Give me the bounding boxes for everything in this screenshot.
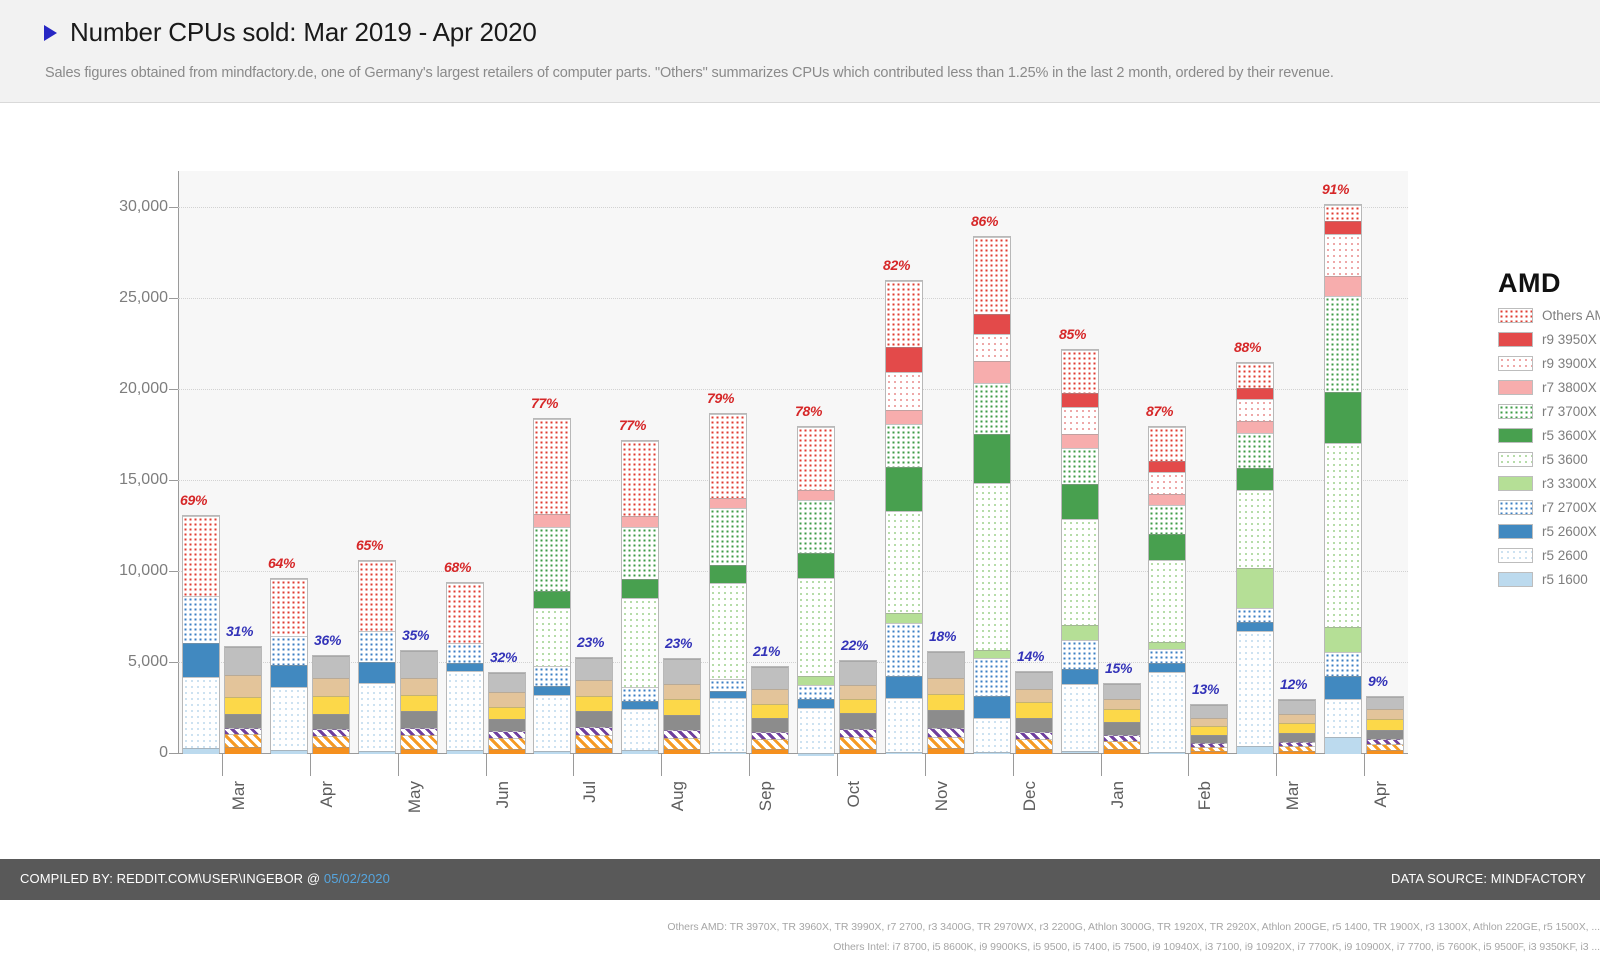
- bar-segment[interactable]: [1279, 723, 1315, 733]
- bar-segment[interactable]: [928, 737, 964, 748]
- bar-segment[interactable]: [710, 508, 746, 564]
- legend-item[interactable]: r5 2600X: [1498, 524, 1600, 539]
- bar-segment[interactable]: [622, 750, 658, 754]
- bar-segment[interactable]: [974, 483, 1010, 650]
- bar-segment[interactable]: [798, 578, 834, 675]
- bar-segment[interactable]: [1016, 732, 1052, 739]
- bar-segment[interactable]: [886, 752, 922, 754]
- legend: AMD Others AMDr9 3950Xr9 3900Xr7 3800Xr7…: [1498, 268, 1600, 587]
- bar-segment[interactable]: [886, 424, 922, 467]
- intel-share-label: 22%: [841, 637, 868, 653]
- bar-segment[interactable]: [313, 678, 349, 696]
- amd-stacked-bar[interactable]: [885, 280, 923, 753]
- bar-segment[interactable]: [798, 685, 834, 700]
- y-tick-mark: [169, 753, 178, 754]
- bar-segment[interactable]: [447, 643, 483, 663]
- bar-segment[interactable]: [664, 715, 700, 730]
- gridline: [178, 298, 1408, 299]
- bar-segment[interactable]: [840, 729, 876, 737]
- bar-segment[interactable]: [225, 675, 261, 697]
- intel-share-label: 15%: [1105, 660, 1132, 676]
- bar-segment[interactable]: [752, 739, 788, 749]
- bar-segment[interactable]: [576, 696, 612, 711]
- bar-segment[interactable]: [534, 527, 570, 592]
- legend-swatch-icon: [1498, 500, 1533, 515]
- bar-segment[interactable]: [974, 718, 1010, 753]
- legend-item[interactable]: r7 3700X: [1498, 404, 1600, 419]
- legend-swatch-icon: [1498, 452, 1533, 467]
- bar-segment[interactable]: [1237, 568, 1273, 607]
- amd-stacked-bar[interactable]: [358, 560, 396, 753]
- bar-segment[interactable]: [1149, 534, 1185, 560]
- footer-data-source: DATA SOURCE: MINDFACTORY: [1391, 871, 1586, 886]
- bar-segment[interactable]: [1149, 505, 1185, 534]
- bar-segment[interactable]: [1149, 494, 1185, 505]
- x-tick-mark: [310, 754, 311, 776]
- bar-segment[interactable]: [1062, 625, 1098, 640]
- bar-segment[interactable]: [886, 613, 922, 623]
- bar-segment[interactable]: [886, 347, 922, 372]
- legend-item[interactable]: r7 2700X: [1498, 500, 1600, 515]
- bar-segment[interactable]: [710, 414, 746, 498]
- chart-container: 05,00010,00015,00020,00025,00030,000 Mar…: [0, 103, 1600, 900]
- legend-item[interactable]: r9 3950X: [1498, 332, 1600, 347]
- intel-share-label: 31%: [226, 623, 253, 639]
- intel-stacked-bar[interactable]: [488, 672, 526, 753]
- bar-segment[interactable]: [534, 591, 570, 607]
- legend-item-label: r7 3800X: [1542, 380, 1597, 395]
- bar-segment[interactable]: [622, 527, 658, 580]
- intel-share-label: 12%: [1280, 676, 1307, 692]
- bar-segment[interactable]: [710, 565, 746, 583]
- bar-segment[interactable]: [1325, 737, 1361, 754]
- bar-segment[interactable]: [1367, 697, 1403, 710]
- bar-segment[interactable]: [183, 596, 219, 643]
- intel-share-label: 23%: [577, 634, 604, 650]
- bar-segment[interactable]: [928, 710, 964, 727]
- bar-segment[interactable]: [447, 583, 483, 643]
- bar-segment[interactable]: [359, 751, 395, 754]
- bar-segment[interactable]: [886, 410, 922, 424]
- bar-segment[interactable]: [534, 686, 570, 695]
- footer-compiled-by: COMPILED BY: REDDIT.COM\USER\INGEBOR @ 0…: [20, 871, 390, 886]
- legend-item[interactable]: r9 3900X: [1498, 356, 1600, 371]
- bar-segment[interactable]: [489, 707, 525, 720]
- bar-segment[interactable]: [1237, 421, 1273, 433]
- bar-segment[interactable]: [225, 734, 261, 747]
- bar-segment[interactable]: [1237, 388, 1273, 400]
- bar-segment[interactable]: [622, 709, 658, 751]
- bar-segment[interactable]: [1016, 749, 1052, 754]
- bar-segment[interactable]: [1062, 519, 1098, 624]
- bar-segment[interactable]: [401, 749, 437, 754]
- page-subtitle: Sales figures obtained from mindfactory.…: [45, 65, 1334, 81]
- y-tick-mark: [169, 389, 178, 390]
- bar-segment[interactable]: [1104, 699, 1140, 710]
- bar-segment[interactable]: [840, 661, 876, 685]
- amd-stacked-bar[interactable]: [1148, 426, 1186, 753]
- bar-segment[interactable]: [1237, 363, 1273, 388]
- bar-segment[interactable]: [710, 698, 746, 753]
- intel-stacked-bar[interactable]: [1278, 699, 1316, 753]
- x-tick-label: Mar: [1283, 781, 1303, 810]
- bar-segment[interactable]: [1149, 649, 1185, 664]
- bar-segment[interactable]: [1104, 709, 1140, 722]
- bar-segment[interactable]: [752, 749, 788, 754]
- bar-segment[interactable]: [1279, 714, 1315, 723]
- bar-segment[interactable]: [1062, 350, 1098, 393]
- intel-stacked-bar[interactable]: [575, 657, 613, 753]
- bar-segment[interactable]: [271, 687, 307, 751]
- bar-segment[interactable]: [489, 692, 525, 707]
- bar-segment[interactable]: [1237, 490, 1273, 568]
- intel-stacked-bar[interactable]: [1015, 671, 1053, 753]
- bar-segment[interactable]: [1149, 461, 1185, 472]
- bar-segment[interactable]: [1237, 631, 1273, 746]
- amd-share-label: 77%: [619, 417, 646, 433]
- legend-item-label: r7 2700X: [1542, 500, 1597, 515]
- bar-segment[interactable]: [225, 714, 261, 728]
- legend-item[interactable]: r5 2600: [1498, 548, 1600, 563]
- bar-segment[interactable]: [798, 427, 834, 491]
- bar-segment[interactable]: [183, 643, 219, 677]
- bar-segment[interactable]: [576, 658, 612, 681]
- bar-segment[interactable]: [359, 561, 395, 631]
- bar-segment[interactable]: [886, 511, 922, 613]
- bar-segment[interactable]: [401, 695, 437, 711]
- y-tick-label: 0: [48, 744, 168, 762]
- bar-segment[interactable]: [225, 747, 261, 754]
- bar-segment[interactable]: [886, 676, 922, 698]
- bar-segment[interactable]: [798, 753, 834, 756]
- bar-segment[interactable]: [798, 553, 834, 578]
- bar-segment[interactable]: [886, 372, 922, 410]
- bar-segment[interactable]: [1104, 741, 1140, 749]
- bar-segment[interactable]: [1149, 663, 1185, 672]
- bar-segment[interactable]: [313, 714, 349, 729]
- amd-share-label: 85%: [1059, 326, 1086, 342]
- bar-segment[interactable]: [752, 689, 788, 704]
- bar-segment[interactable]: [489, 749, 525, 754]
- bar-segment[interactable]: [401, 735, 437, 749]
- bar-segment[interactable]: [840, 699, 876, 714]
- bar-segment[interactable]: [225, 697, 261, 714]
- x-tick-mark: [661, 754, 662, 776]
- bar-segment[interactable]: [1237, 608, 1273, 623]
- bar-segment[interactable]: [1237, 622, 1273, 631]
- bar-segment[interactable]: [974, 314, 1010, 334]
- amd-stacked-bar[interactable]: [1236, 362, 1274, 753]
- bar-segment[interactable]: [1237, 433, 1273, 468]
- bar-segment[interactable]: [1062, 393, 1098, 407]
- bar-segment[interactable]: [1149, 752, 1185, 754]
- bar-segment[interactable]: [840, 713, 876, 728]
- bar-segment[interactable]: [1191, 735, 1227, 743]
- bar-segment[interactable]: [576, 727, 612, 735]
- bar-segment[interactable]: [928, 748, 964, 754]
- bar-segment[interactable]: [359, 683, 395, 751]
- bar-segment[interactable]: [1149, 427, 1185, 462]
- bar-segment[interactable]: [401, 728, 437, 735]
- bar-segment[interactable]: [183, 516, 219, 596]
- bar-segment[interactable]: [886, 698, 922, 753]
- bar-segment[interactable]: [1325, 221, 1361, 234]
- bar-segment[interactable]: [1325, 392, 1361, 443]
- bar-segment[interactable]: [489, 738, 525, 749]
- bar-segment[interactable]: [1279, 700, 1315, 714]
- bar-segment[interactable]: [489, 719, 525, 731]
- bar-segment[interactable]: [1104, 749, 1140, 754]
- bar-segment[interactable]: [1191, 718, 1227, 726]
- bar-segment[interactable]: [1367, 719, 1403, 730]
- bar-segment[interactable]: [886, 623, 922, 676]
- bar-segment[interactable]: [928, 694, 964, 710]
- bar-segment[interactable]: [1191, 726, 1227, 735]
- intel-stacked-bar[interactable]: [224, 646, 262, 753]
- bar-segment[interactable]: [710, 752, 746, 754]
- bar-segment[interactable]: [576, 680, 612, 695]
- bar-segment[interactable]: [1367, 750, 1403, 754]
- intel-share-label: 14%: [1017, 648, 1044, 664]
- bar-segment[interactable]: [974, 383, 1010, 434]
- bar-segment[interactable]: [798, 500, 834, 553]
- bar-segment[interactable]: [1191, 705, 1227, 718]
- bar-segment[interactable]: [664, 684, 700, 699]
- bar-segment[interactable]: [534, 419, 570, 514]
- amd-stacked-bar[interactable]: [1324, 204, 1362, 753]
- bar-segment[interactable]: [1191, 751, 1227, 754]
- bar-segment[interactable]: [1062, 669, 1098, 684]
- bar-segment[interactable]: [974, 434, 1010, 483]
- bar-segment[interactable]: [664, 749, 700, 754]
- legend-swatch-icon: [1498, 332, 1533, 347]
- bar-segment[interactable]: [401, 711, 437, 727]
- legend-item[interactable]: r5 3600: [1498, 452, 1600, 467]
- bar-segment[interactable]: [840, 749, 876, 754]
- x-tick-label: Jan: [1108, 781, 1128, 808]
- bar-segment[interactable]: [798, 708, 834, 753]
- intel-stacked-bar[interactable]: [312, 655, 350, 753]
- bar-segment[interactable]: [271, 665, 307, 687]
- legend-swatch-icon: [1498, 308, 1533, 323]
- bar-segment[interactable]: [1325, 296, 1361, 392]
- amd-stacked-bar[interactable]: [797, 426, 835, 753]
- intel-stacked-bar[interactable]: [927, 651, 965, 753]
- bar-segment[interactable]: [183, 677, 219, 748]
- bar-segment[interactable]: [359, 662, 395, 683]
- bar-segment[interactable]: [447, 663, 483, 671]
- bar-segment[interactable]: [1367, 730, 1403, 739]
- bar-segment[interactable]: [974, 696, 1010, 718]
- bar-segment[interactable]: [1237, 746, 1273, 754]
- bar-segment[interactable]: [840, 685, 876, 699]
- bar-segment[interactable]: [1104, 722, 1140, 735]
- bar-segment[interactable]: [313, 656, 349, 678]
- legend-item[interactable]: r7 3800X: [1498, 380, 1600, 395]
- intel-stacked-bar[interactable]: [663, 658, 701, 753]
- amd-stacked-bar[interactable]: [446, 582, 484, 753]
- bar-segment[interactable]: [313, 729, 349, 736]
- bar-segment[interactable]: [1325, 205, 1361, 221]
- bar-segment[interactable]: [576, 711, 612, 726]
- bar-segment[interactable]: [1062, 434, 1098, 448]
- bar-segment[interactable]: [1325, 699, 1361, 737]
- bar-segment[interactable]: [1325, 276, 1361, 296]
- bar-segment[interactable]: [622, 516, 658, 527]
- bar-segment[interactable]: [710, 498, 746, 509]
- intel-stacked-bar[interactable]: [751, 666, 789, 753]
- bar-segment[interactable]: [1062, 751, 1098, 753]
- intel-stacked-bar[interactable]: [400, 650, 438, 753]
- bar-segment[interactable]: [183, 748, 219, 754]
- bar-segment[interactable]: [271, 636, 307, 665]
- amd-stacked-bar[interactable]: [270, 578, 308, 753]
- bar-segment[interactable]: [359, 631, 395, 662]
- bar-segment[interactable]: [534, 608, 570, 666]
- bar-segment[interactable]: [664, 738, 700, 749]
- x-tick-mark: [1013, 754, 1014, 776]
- bar-segment[interactable]: [1279, 751, 1315, 754]
- bar-segment[interactable]: [1062, 448, 1098, 484]
- bar-segment[interactable]: [886, 281, 922, 346]
- bar-segment[interactable]: [840, 737, 876, 749]
- bar-segment[interactable]: [622, 579, 658, 597]
- bar-segment[interactable]: [622, 687, 658, 702]
- bar-segment[interactable]: [974, 237, 1010, 313]
- amd-stacked-bar[interactable]: [709, 413, 747, 753]
- y-tick-label: 20,000: [48, 380, 168, 398]
- bar-segment[interactable]: [974, 658, 1010, 696]
- bar-segment[interactable]: [1149, 672, 1185, 752]
- bar-segment[interactable]: [1062, 640, 1098, 669]
- bar-segment[interactable]: [928, 678, 964, 694]
- bar-segment[interactable]: [313, 736, 349, 747]
- y-axis-line: [178, 171, 179, 754]
- legend-item[interactable]: Others AMD: [1498, 308, 1600, 323]
- bar-segment[interactable]: [664, 659, 700, 684]
- bar-segment[interactable]: [401, 678, 437, 695]
- bar-segment[interactable]: [1062, 407, 1098, 434]
- amd-stacked-bar[interactable]: [533, 418, 571, 753]
- amd-stacked-bar[interactable]: [973, 236, 1011, 753]
- y-tick-label: 5,000: [48, 653, 168, 671]
- page-header: Number CPUs sold: Mar 2019 - Apr 2020 Sa…: [0, 0, 1600, 103]
- bar-segment[interactable]: [576, 735, 612, 748]
- y-tick-label: 10,000: [48, 562, 168, 580]
- bar-segment[interactable]: [1062, 684, 1098, 751]
- amd-share-label: 77%: [531, 395, 558, 411]
- bar-segment[interactable]: [974, 752, 1010, 754]
- bar-segment[interactable]: [1367, 709, 1403, 719]
- bar-segment[interactable]: [974, 334, 1010, 361]
- legend-item[interactable]: r3 3300X: [1498, 476, 1600, 491]
- bar-segment[interactable]: [752, 718, 788, 733]
- bar-segment[interactable]: [1062, 484, 1098, 519]
- legend-item[interactable]: r5 1600: [1498, 572, 1600, 587]
- bar-segment[interactable]: [622, 701, 658, 708]
- bar-segment[interactable]: [534, 666, 570, 686]
- bar-segment[interactable]: [1325, 443, 1361, 627]
- bar-segment[interactable]: [974, 650, 1010, 657]
- bar-segment[interactable]: [1149, 472, 1185, 494]
- bar-segment[interactable]: [1325, 627, 1361, 652]
- bar-segment[interactable]: [710, 679, 746, 692]
- y-tick-mark: [169, 298, 178, 299]
- bar-segment[interactable]: [1016, 672, 1052, 688]
- bar-segment[interactable]: [1325, 676, 1361, 699]
- bar-segment[interactable]: [401, 651, 437, 677]
- bar-segment[interactable]: [534, 751, 570, 754]
- bar-segment[interactable]: [664, 699, 700, 714]
- bar-segment[interactable]: [489, 673, 525, 692]
- bar-segment[interactable]: [1325, 652, 1361, 676]
- bar-segment[interactable]: [534, 514, 570, 527]
- x-tick-mark: [1276, 754, 1277, 776]
- bar-segment[interactable]: [271, 579, 307, 635]
- intel-share-label: 35%: [402, 627, 429, 643]
- legend-item-label: r9 3900X: [1542, 356, 1597, 371]
- bar-segment[interactable]: [974, 361, 1010, 383]
- bar-segment[interactable]: [313, 747, 349, 754]
- bar-segment[interactable]: [225, 647, 261, 675]
- bar-segment[interactable]: [1016, 689, 1052, 703]
- intel-stacked-bar[interactable]: [839, 660, 877, 753]
- amd-stacked-bar[interactable]: [1061, 349, 1099, 753]
- bar-segment[interactable]: [752, 704, 788, 718]
- bar-segment[interactable]: [447, 671, 483, 750]
- bar-segment[interactable]: [710, 583, 746, 678]
- amd-stacked-bar[interactable]: [621, 440, 659, 753]
- bar-segment[interactable]: [798, 490, 834, 500]
- bar-segment[interactable]: [1237, 468, 1273, 491]
- bar-segment[interactable]: [928, 728, 964, 737]
- bar-segment[interactable]: [271, 750, 307, 754]
- bar-segment[interactable]: [1325, 234, 1361, 276]
- bar-segment[interactable]: [576, 748, 612, 753]
- intel-stacked-bar[interactable]: [1190, 704, 1228, 753]
- bar-segment[interactable]: [798, 699, 834, 707]
- x-tick-label: Oct: [844, 781, 864, 807]
- bar-segment[interactable]: [752, 732, 788, 739]
- y-tick-label: 15,000: [48, 471, 168, 489]
- legend-swatch-icon: [1498, 356, 1533, 371]
- bar-segment[interactable]: [447, 750, 483, 754]
- intel-stacked-bar[interactable]: [1103, 683, 1141, 753]
- bar-segment[interactable]: [1104, 684, 1140, 699]
- bar-segment[interactable]: [622, 598, 658, 687]
- y-tick-mark: [169, 480, 178, 481]
- bar-segment[interactable]: [1149, 560, 1185, 642]
- bar-segment[interactable]: [1016, 702, 1052, 717]
- bar-segment[interactable]: [622, 441, 658, 516]
- bar-segment[interactable]: [886, 467, 922, 512]
- bar-segment[interactable]: [1016, 718, 1052, 733]
- bar-segment[interactable]: [928, 652, 964, 677]
- x-tick-label: Sep: [756, 781, 776, 811]
- bar-segment[interactable]: [1016, 739, 1052, 748]
- bar-segment[interactable]: [664, 730, 700, 737]
- intel-stacked-bar[interactable]: [1366, 696, 1404, 753]
- amd-stacked-bar[interactable]: [182, 515, 220, 753]
- bar-segment[interactable]: [313, 696, 349, 714]
- bar-segment[interactable]: [1279, 733, 1315, 742]
- footer-compiled-date[interactable]: 05/02/2020: [324, 871, 390, 886]
- bar-segment[interactable]: [1237, 399, 1273, 421]
- bar-segment[interactable]: [534, 695, 570, 751]
- bar-segment[interactable]: [752, 667, 788, 690]
- legend-item[interactable]: r5 3600X: [1498, 428, 1600, 443]
- bar-segment[interactable]: [798, 676, 834, 685]
